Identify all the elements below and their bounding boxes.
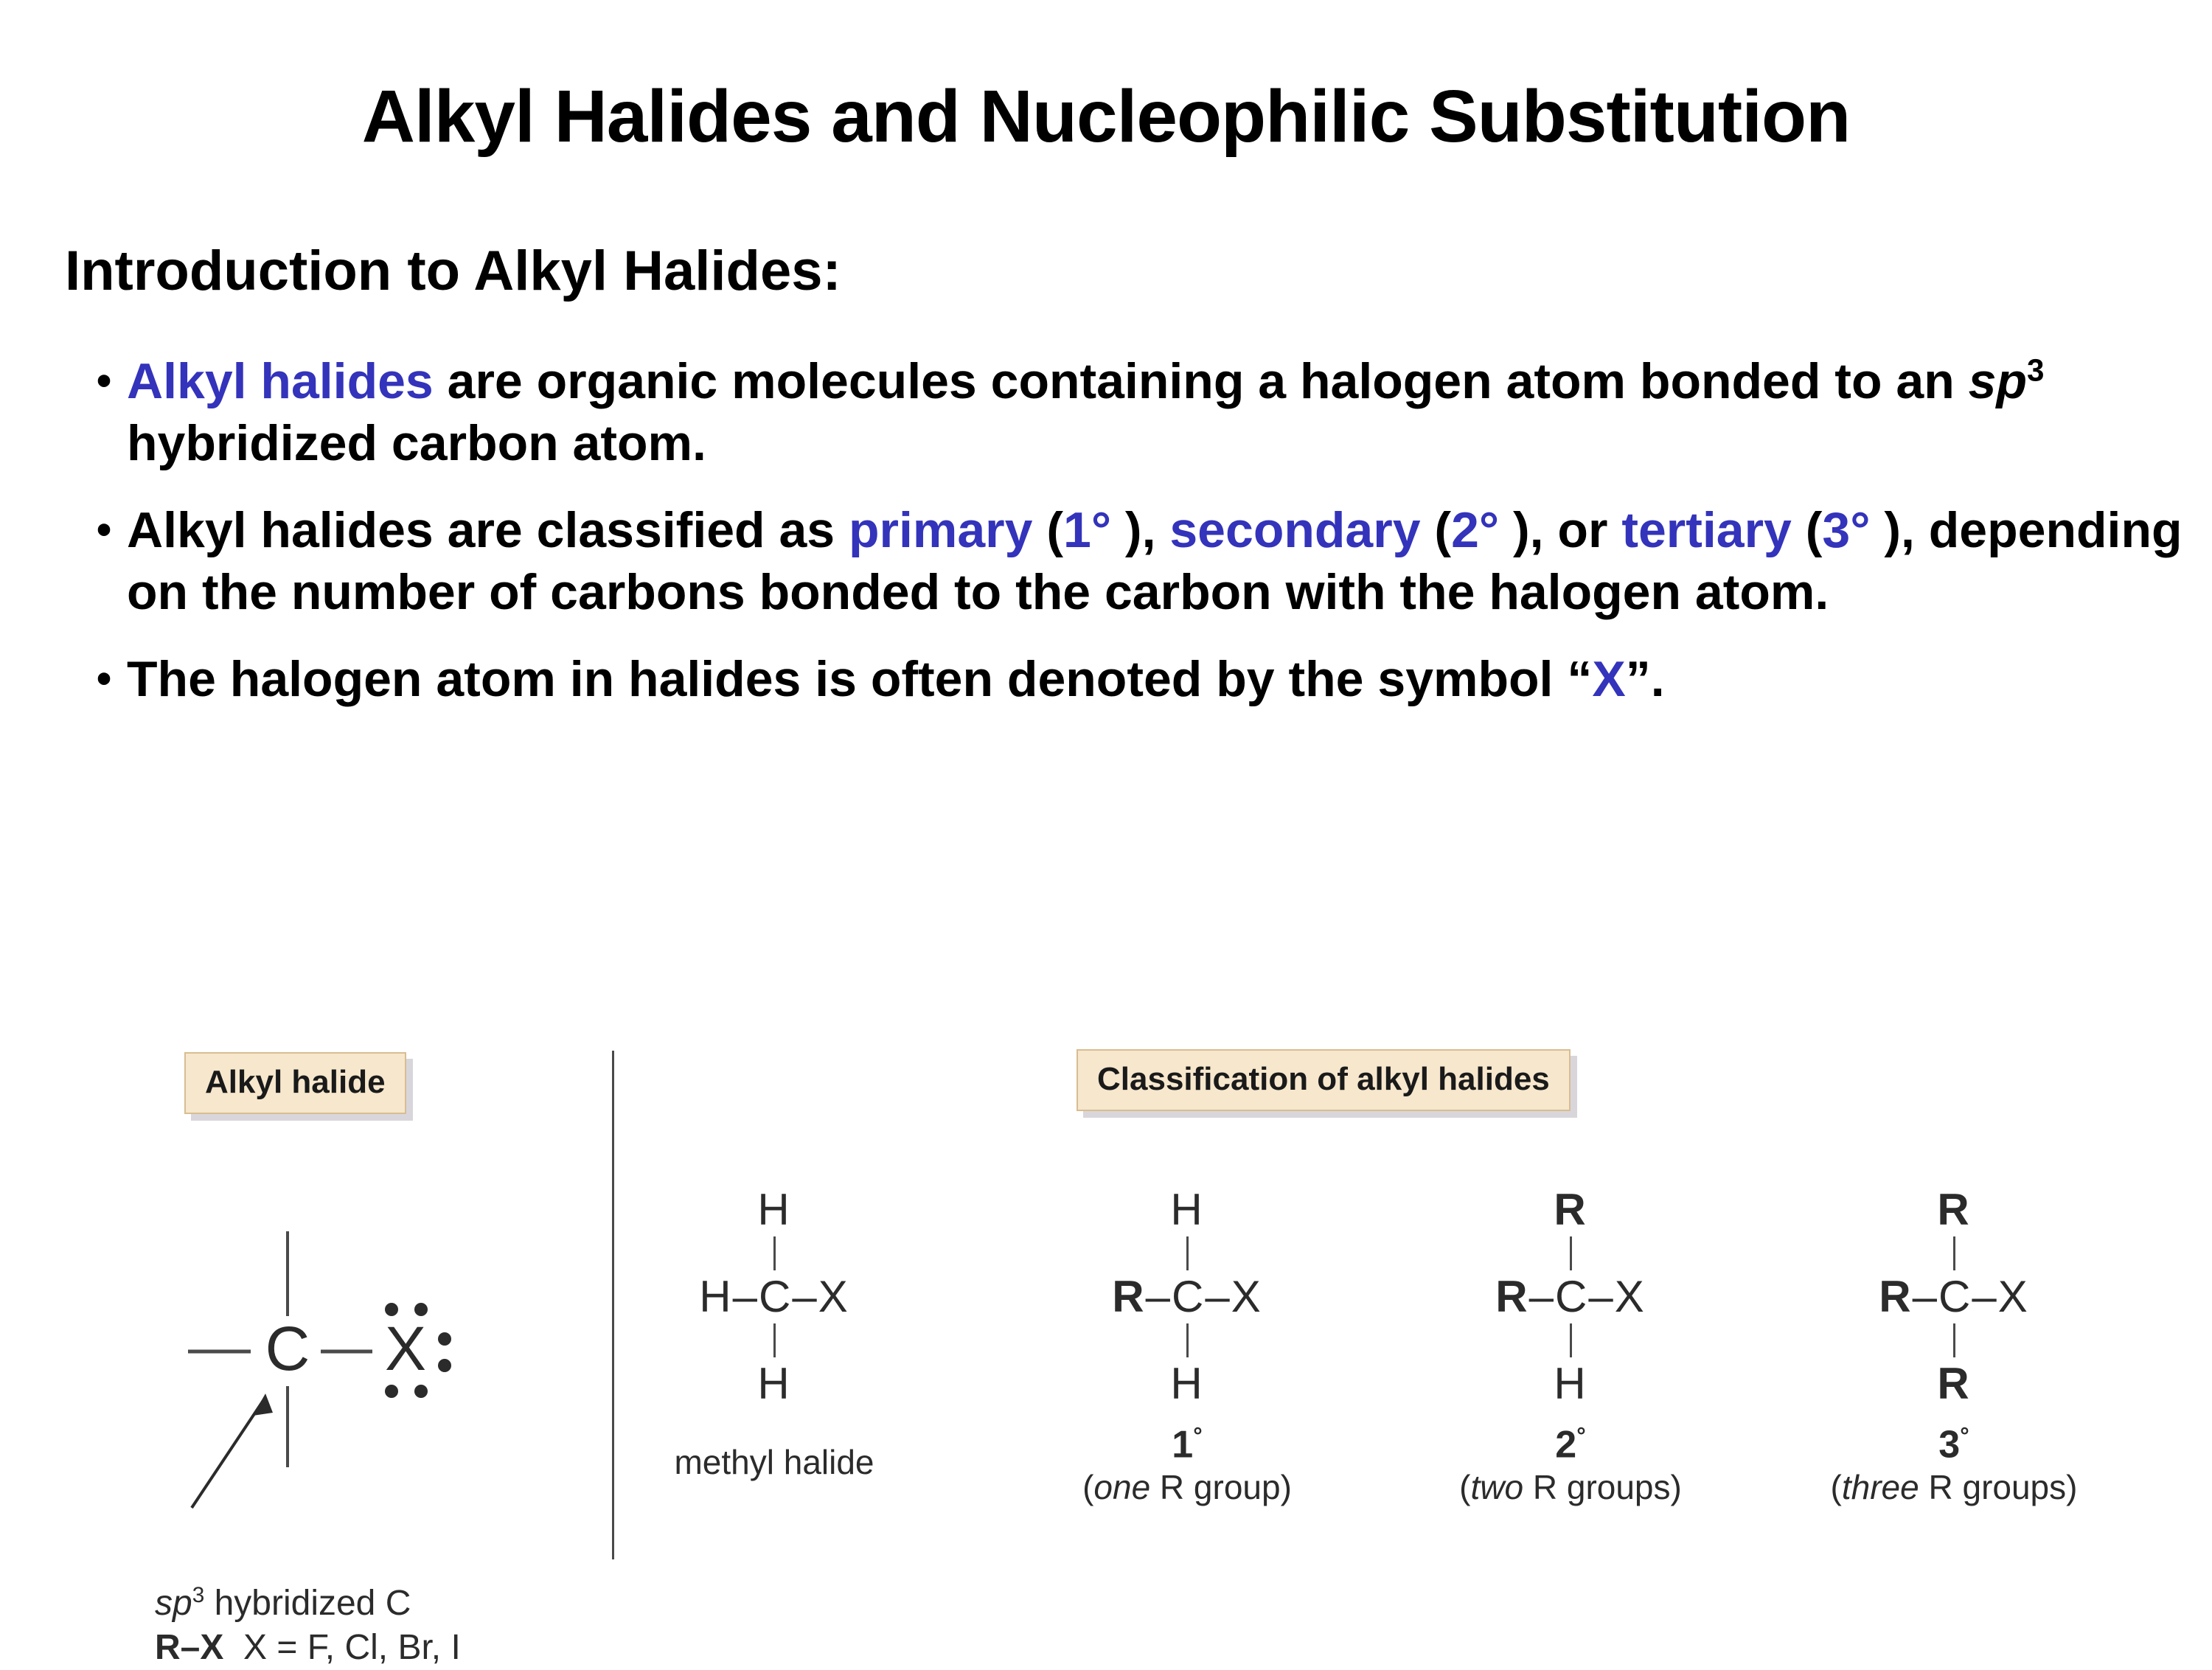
primary-top-atom: H: [1032, 1187, 1342, 1233]
methyl-bond-right: –: [792, 1272, 818, 1321]
structure-methyl-halide: H H–C–X H: [619, 1187, 929, 1407]
degree-symbol-3: °: [1960, 1423, 1969, 1449]
caption-tertiary-group-text: R groups: [1919, 1468, 2066, 1506]
primary-left-atom: R: [1112, 1272, 1145, 1321]
caption-primary-group-count: (one R group): [1082, 1468, 1292, 1506]
structure-tertiary-halide: R R–C–X R: [1799, 1187, 2109, 1407]
methyl-left-atom: H: [699, 1272, 732, 1321]
primary-center-atom: C: [1172, 1272, 1205, 1321]
bullet-3-part-3: ”.: [1626, 651, 1665, 707]
term-alkyl-halides: Alkyl halides: [127, 353, 434, 409]
methyl-bottom-atom: H: [619, 1361, 929, 1407]
bullet-1-part-2: are organic molecules containing a halog…: [434, 353, 1969, 409]
tertiary-center-atom: C: [1938, 1272, 1972, 1321]
caption-hybridized-c: hybridized C: [204, 1584, 411, 1623]
structure-primary-halide: H R–C–X H: [1032, 1187, 1342, 1407]
structure-secondary-halide: R R–C–X H: [1416, 1187, 1725, 1407]
caption-rx-formula: R–X: [155, 1628, 223, 1667]
figure-panel: Alkyl halide Classification of alkyl hal…: [0, 1043, 2212, 1589]
bullet-text-classification: Alkyl halides are classified as primary …: [127, 499, 2197, 623]
secondary-bond-top: [1570, 1236, 1572, 1270]
bullet-1-part-5: hybridized carbon atom.: [127, 415, 706, 471]
tertiary-top-atom: R: [1799, 1187, 2109, 1233]
bullet-3-part-1: The halogen atom in halides is often den…: [127, 651, 1592, 707]
tertiary-bond-right: –: [1972, 1272, 1997, 1321]
caption-tertiary-count-word: three: [1842, 1468, 1919, 1506]
caption-methyl-halide: methyl halide: [605, 1441, 944, 1483]
caption-secondary-group-count: (two R groups): [1459, 1468, 1682, 1506]
methyl-bond-top: [773, 1236, 776, 1270]
section-heading: Introduction to Alkyl Halides:: [65, 243, 841, 299]
secondary-bond-bottom: [1570, 1323, 1572, 1357]
secondary-middle-row: R–C–X: [1416, 1274, 1725, 1320]
caption-tertiary-group-count: (three R groups): [1831, 1468, 2078, 1506]
bullet-2-part-3: (: [1032, 502, 1063, 558]
caption-sp3-hybridized: sp3 hybridized C: [155, 1582, 461, 1626]
label-1-degree: 1°: [1063, 502, 1111, 558]
class-number-1: 1: [1172, 1423, 1193, 1466]
bullet-marker-icon: •: [81, 499, 127, 561]
primary-bond-bottom: [1186, 1323, 1189, 1357]
term-primary: primary: [849, 502, 1032, 558]
bullet-marker-icon: •: [81, 350, 127, 412]
methyl-top-atom: H: [619, 1187, 929, 1233]
caption-sp: sp: [155, 1584, 192, 1623]
secondary-bond-right: –: [1588, 1272, 1614, 1321]
caption-x-equals: X = F, Cl, Br, I: [243, 1628, 461, 1667]
class-label-3-degree: 3°: [1784, 1416, 2124, 1465]
caption-sp-exponent: 3: [192, 1583, 205, 1607]
primary-right-atom: X: [1231, 1272, 1262, 1321]
tertiary-middle-row: R–C–X: [1799, 1274, 2109, 1320]
caption-tertiary-halide: 3° (three R groups): [1784, 1416, 2124, 1508]
class-label-1-degree: 1°: [1018, 1416, 1357, 1465]
bullet-text-symbol: The halogen atom in halides is often den…: [127, 648, 2197, 710]
bullet-item-classification: • Alkyl halides are classified as primar…: [81, 499, 2197, 623]
bullet-1-sp: sp: [1969, 353, 2027, 409]
bullet-2-part-7: (: [1421, 502, 1452, 558]
bullet-marker-icon: •: [81, 648, 127, 710]
primary-bond-right: –: [1205, 1272, 1231, 1321]
class-number-3: 3: [1938, 1423, 1960, 1466]
caption-r-x-definition: R–X X = F, Cl, Br, I: [155, 1626, 461, 1670]
methyl-middle-row: H–C–X: [619, 1274, 929, 1320]
caption-secondary-halide: 2° (two R groups): [1401, 1416, 1740, 1508]
bullet-2-part-5: ),: [1111, 502, 1169, 558]
primary-bond-top: [1186, 1236, 1189, 1270]
bullet-item-definition: • Alkyl halides are organic molecules co…: [81, 350, 2197, 474]
secondary-bottom-atom: H: [1416, 1361, 1725, 1407]
methyl-center-atom: C: [759, 1272, 792, 1321]
term-secondary: secondary: [1169, 502, 1420, 558]
tertiary-right-atom: X: [1998, 1272, 2029, 1321]
primary-middle-row: R–C–X: [1032, 1274, 1342, 1320]
bullet-item-symbol: • The halogen atom in halides is often d…: [81, 648, 2197, 710]
structure-generic-alkyl-halide: C X sp3 hybridized C R–X X = F, Cl, Br, …: [147, 1172, 560, 1556]
caption-primary-count-word: one: [1093, 1468, 1150, 1506]
bullet-text-definition: Alkyl halides are organic molecules cont…: [127, 350, 2197, 474]
caption-secondary-group-text: R groups: [1523, 1468, 1670, 1506]
tertiary-bond-bottom: [1953, 1323, 1955, 1357]
class-label-2-degree: 2°: [1401, 1416, 1740, 1465]
generic-structure-caption: sp3 hybridized C R–X X = F, Cl, Br, I: [155, 1582, 461, 1670]
bullet-2-part-1: Alkyl halides are classified as: [127, 502, 849, 558]
caption-primary-halide: 1° (one R group): [1018, 1416, 1357, 1508]
degree-symbol-1: °: [1193, 1423, 1202, 1449]
tertiary-bottom-atom: R: [1799, 1361, 2109, 1407]
bullet-2-part-11: (: [1792, 502, 1823, 558]
generic-structure-svg: C X: [147, 1172, 560, 1556]
bullet-1-sp-exponent: 3: [2027, 352, 2044, 387]
methyl-bond-bottom: [773, 1323, 776, 1357]
secondary-center-atom: C: [1555, 1272, 1588, 1321]
caption-methyl-halide-text: methyl halide: [674, 1443, 874, 1481]
page-title: Alkyl Halides and Nucleophilic Substitut…: [0, 80, 2212, 153]
term-tertiary: tertiary: [1621, 502, 1792, 558]
degree-symbol-2: °: [1576, 1423, 1585, 1449]
label-3-degree: 3°: [1822, 502, 1870, 558]
svg-text:X: X: [385, 1314, 426, 1383]
bullet-list: • Alkyl halides are organic molecules co…: [81, 350, 2197, 735]
secondary-top-atom: R: [1416, 1187, 1725, 1233]
secondary-left-atom: R: [1495, 1272, 1528, 1321]
methyl-right-atom: X: [818, 1272, 849, 1321]
svg-text:C: C: [265, 1314, 310, 1383]
figure-tag-alkyl-halide: Alkyl halide: [184, 1052, 406, 1114]
methyl-bond-left: –: [733, 1272, 759, 1321]
bullet-2-part-9: ), or: [1499, 502, 1621, 558]
primary-bond-left: –: [1146, 1272, 1172, 1321]
caption-primary-group-text: R group: [1150, 1468, 1280, 1506]
figure-tag-classification: Classification of alkyl halides: [1077, 1049, 1571, 1111]
tertiary-bond-left: –: [1913, 1272, 1938, 1321]
secondary-right-atom: X: [1615, 1272, 1646, 1321]
secondary-bond-left: –: [1529, 1272, 1555, 1321]
class-number-2: 2: [1555, 1423, 1576, 1466]
label-2-degree: 2°: [1451, 502, 1499, 558]
tertiary-left-atom: R: [1879, 1272, 1912, 1321]
figure-divider: [612, 1051, 614, 1559]
tertiary-bond-top: [1953, 1236, 1955, 1270]
primary-bottom-atom: H: [1032, 1361, 1342, 1407]
symbol-x: X: [1592, 651, 1625, 707]
caption-secondary-count-word: two: [1470, 1468, 1523, 1506]
